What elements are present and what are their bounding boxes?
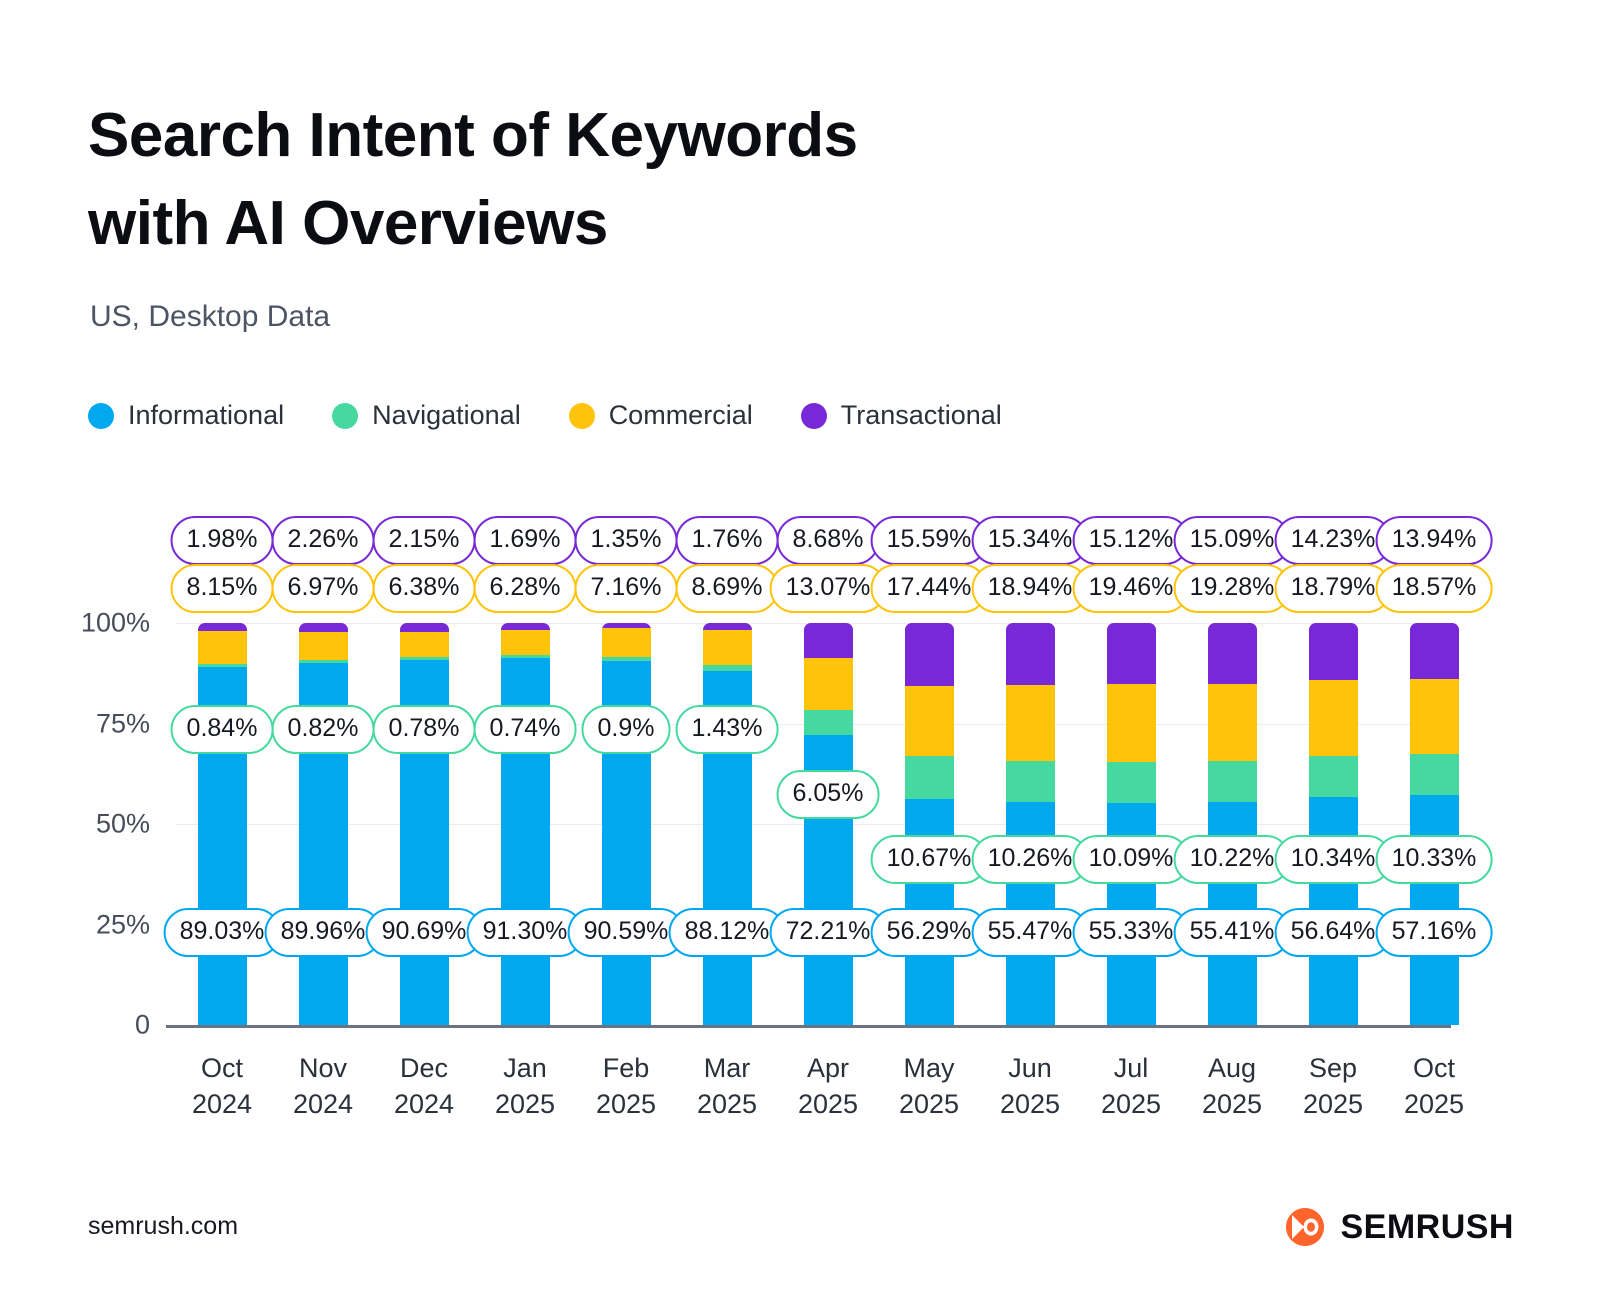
chart-page: Search Intent of Keywords with AI Overvi… (0, 0, 1600, 1298)
bar-segment-transactional[interactable] (400, 623, 449, 632)
bar-segment-transactional[interactable] (1107, 623, 1156, 684)
value-pill-commercial: 7.16% (575, 564, 678, 613)
bar-segment-transactional[interactable] (1309, 623, 1358, 680)
value-pill-informational: 89.96% (265, 908, 382, 957)
value-pill-informational: 56.29% (871, 908, 988, 957)
value-pill-informational: 90.69% (366, 908, 483, 957)
value-pill-commercial: 8.69% (676, 564, 779, 613)
value-pill-transactional: 1.76% (676, 516, 779, 565)
value-pill-transactional: 2.15% (373, 516, 476, 565)
bar-column[interactable] (400, 623, 449, 1025)
bar-column[interactable] (703, 623, 752, 1025)
bar-segment-navigational[interactable] (1309, 756, 1358, 798)
value-pill-commercial: 6.97% (272, 564, 375, 613)
bar-column[interactable] (602, 623, 651, 1025)
bar-column[interactable] (1107, 623, 1156, 1025)
value-pill-transactional: 1.69% (474, 516, 577, 565)
value-pill-commercial: 18.94% (972, 564, 1089, 613)
value-pill-navigational: 0.78% (373, 705, 476, 754)
bar-segment-commercial[interactable] (501, 630, 550, 655)
bar-segment-transactional[interactable] (703, 623, 752, 630)
value-pill-informational: 91.30% (467, 908, 584, 957)
value-pill-navigational: 1.43% (676, 705, 779, 754)
value-pill-commercial: 19.28% (1174, 564, 1291, 613)
value-pill-navigational: 0.84% (171, 705, 274, 754)
value-pill-navigational: 10.67% (871, 835, 988, 884)
bar-segment-transactional[interactable] (299, 623, 348, 632)
y-axis-tick-label: 75% (30, 708, 150, 739)
value-pill-informational: 90.59% (568, 908, 685, 957)
bar-segment-navigational[interactable] (1107, 762, 1156, 803)
value-pill-navigational: 10.33% (1376, 835, 1493, 884)
brand-logo: SEMRUSH (1284, 1206, 1514, 1248)
bar-segment-navigational[interactable] (905, 756, 954, 799)
bar-segment-navigational[interactable] (1410, 754, 1459, 796)
value-pill-navigational: 6.05% (777, 770, 880, 819)
value-pill-transactional: 15.34% (972, 516, 1089, 565)
bar-segment-navigational[interactable] (1006, 761, 1055, 802)
value-pill-commercial: 13.07% (770, 564, 887, 613)
value-pill-transactional: 1.98% (171, 516, 274, 565)
bar-segment-commercial[interactable] (602, 628, 651, 657)
bar-segment-transactional[interactable] (804, 623, 853, 658)
semrush-mark-icon (1284, 1206, 1326, 1248)
value-pill-transactional: 8.68% (777, 516, 880, 565)
value-pill-informational: 88.12% (669, 908, 786, 957)
y-axis-tick-label: 0 (30, 1010, 150, 1041)
value-pill-informational: 89.03% (164, 908, 281, 957)
value-pill-commercial: 6.28% (474, 564, 577, 613)
value-pill-informational: 57.16% (1376, 908, 1493, 957)
value-pill-navigational: 0.9% (582, 705, 671, 754)
value-pill-informational: 55.33% (1073, 908, 1190, 957)
value-pill-transactional: 15.59% (871, 516, 988, 565)
y-axis-tick-label: 25% (30, 909, 150, 940)
bar-column[interactable] (804, 623, 853, 1025)
stacked-bar-chart: 100%75%50%25%0Oct 20241.98%8.15%0.84%89.… (0, 0, 1600, 1298)
y-axis-tick-label: 100% (30, 608, 150, 639)
value-pill-informational: 55.47% (972, 908, 1089, 957)
bar-column[interactable] (299, 623, 348, 1025)
value-pill-transactional: 15.12% (1073, 516, 1190, 565)
value-pill-informational: 72.21% (770, 908, 887, 957)
value-pill-transactional: 15.09% (1174, 516, 1291, 565)
y-axis-tick-label: 50% (30, 809, 150, 840)
bar-segment-transactional[interactable] (198, 623, 247, 631)
bar-segment-commercial[interactable] (804, 658, 853, 711)
x-axis-line (166, 1025, 1451, 1028)
value-pill-navigational: 10.34% (1275, 835, 1392, 884)
bar-segment-transactional[interactable] (1208, 623, 1257, 684)
bar-segment-commercial[interactable] (1208, 684, 1257, 762)
bar-segment-commercial[interactable] (1309, 680, 1358, 756)
value-pill-navigational: 0.82% (272, 705, 375, 754)
value-pill-informational: 56.64% (1275, 908, 1392, 957)
bar-segment-transactional[interactable] (501, 623, 550, 630)
value-pill-transactional: 14.23% (1275, 516, 1392, 565)
value-pill-commercial: 19.46% (1073, 564, 1190, 613)
brand-name: SEMRUSH (1340, 1208, 1514, 1247)
bar-column[interactable] (501, 623, 550, 1025)
bar-segment-transactional[interactable] (905, 623, 954, 686)
value-pill-navigational: 10.09% (1073, 835, 1190, 884)
bar-segment-commercial[interactable] (400, 632, 449, 658)
bar-column[interactable] (905, 623, 954, 1025)
bar-segment-commercial[interactable] (905, 686, 954, 756)
bar-column[interactable] (1006, 623, 1055, 1025)
value-pill-informational: 55.41% (1174, 908, 1291, 957)
bar-column[interactable] (1410, 623, 1459, 1025)
value-pill-commercial: 6.38% (373, 564, 476, 613)
bar-segment-commercial[interactable] (299, 632, 348, 660)
bar-segment-navigational[interactable] (804, 710, 853, 734)
bar-segment-commercial[interactable] (703, 630, 752, 665)
value-pill-commercial: 18.79% (1275, 564, 1392, 613)
bar-segment-commercial[interactable] (198, 631, 247, 664)
value-pill-commercial: 18.57% (1376, 564, 1493, 613)
bar-segment-commercial[interactable] (1006, 685, 1055, 761)
value-pill-transactional: 13.94% (1376, 516, 1493, 565)
bar-column[interactable] (1208, 623, 1257, 1025)
value-pill-navigational: 10.26% (972, 835, 1089, 884)
bar-segment-commercial[interactable] (1107, 684, 1156, 762)
footer-url[interactable]: semrush.com (88, 1212, 238, 1241)
value-pill-navigational: 10.22% (1174, 835, 1291, 884)
value-pill-transactional: 1.35% (575, 516, 678, 565)
x-axis-tick-label: Oct 2025 (1374, 1050, 1494, 1123)
bar-column[interactable] (198, 623, 247, 1025)
bar-segment-navigational[interactable] (1208, 761, 1257, 802)
bar-segment-transactional[interactable] (1006, 623, 1055, 685)
value-pill-transactional: 2.26% (272, 516, 375, 565)
value-pill-navigational: 0.74% (474, 705, 577, 754)
bar-segment-transactional[interactable] (1410, 623, 1459, 679)
value-pill-commercial: 17.44% (871, 564, 988, 613)
plot-area (176, 623, 1451, 1025)
value-pill-commercial: 8.15% (171, 564, 274, 613)
bar-segment-commercial[interactable] (1410, 679, 1459, 754)
bar-column[interactable] (1309, 623, 1358, 1025)
